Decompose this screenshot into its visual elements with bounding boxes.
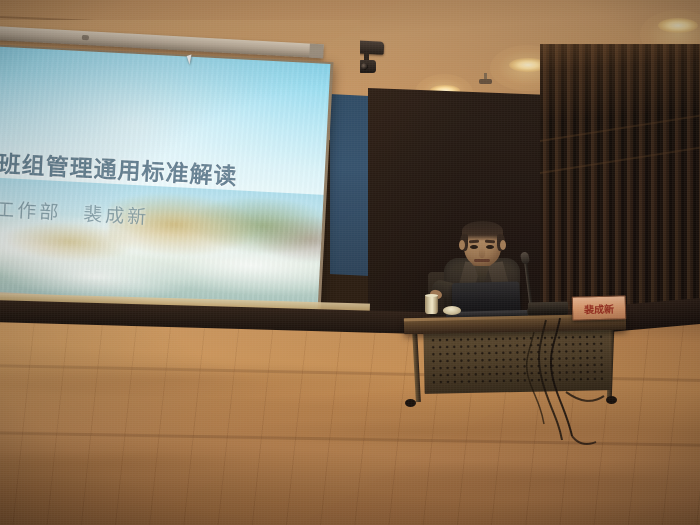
camera-lens-icon (361, 63, 368, 70)
speaker-mouth (474, 259, 490, 262)
control-box (528, 302, 568, 316)
speaker-eye (470, 245, 478, 249)
speaker-eyebrow (485, 240, 495, 244)
screen-housing-endcap (309, 44, 324, 59)
cup (425, 295, 438, 314)
perforated-metal-texture (429, 333, 604, 388)
wood-slat-texture (540, 44, 700, 334)
speaker-eye (486, 245, 494, 249)
housing-logo-icon (82, 35, 89, 40)
cup-rim (425, 294, 438, 297)
desk-caster (405, 399, 416, 407)
saucer (443, 306, 461, 315)
nameplate: 裴成新 (572, 295, 627, 320)
photo-scene: 团班组管理通用标准解读 会工作部 裴成新 部 (0, 0, 700, 525)
projection-screen-surface: 团班组管理通用标准解读 会工作部 裴成新 部 (0, 46, 330, 315)
desk-modesty-panel (423, 328, 610, 394)
nameplate-text: 裴成新 (584, 300, 614, 316)
speaker-ear (500, 240, 506, 250)
wood-slat-wall (540, 44, 700, 334)
desk-caster (606, 396, 617, 404)
downlight-icon (658, 18, 698, 33)
sprinkler-head-icon (479, 79, 492, 84)
speaker-ear (459, 240, 465, 250)
projection-screen: 团班组管理通用标准解读 会工作部 裴成新 部 (0, 44, 334, 320)
speaker-nose (479, 248, 485, 258)
